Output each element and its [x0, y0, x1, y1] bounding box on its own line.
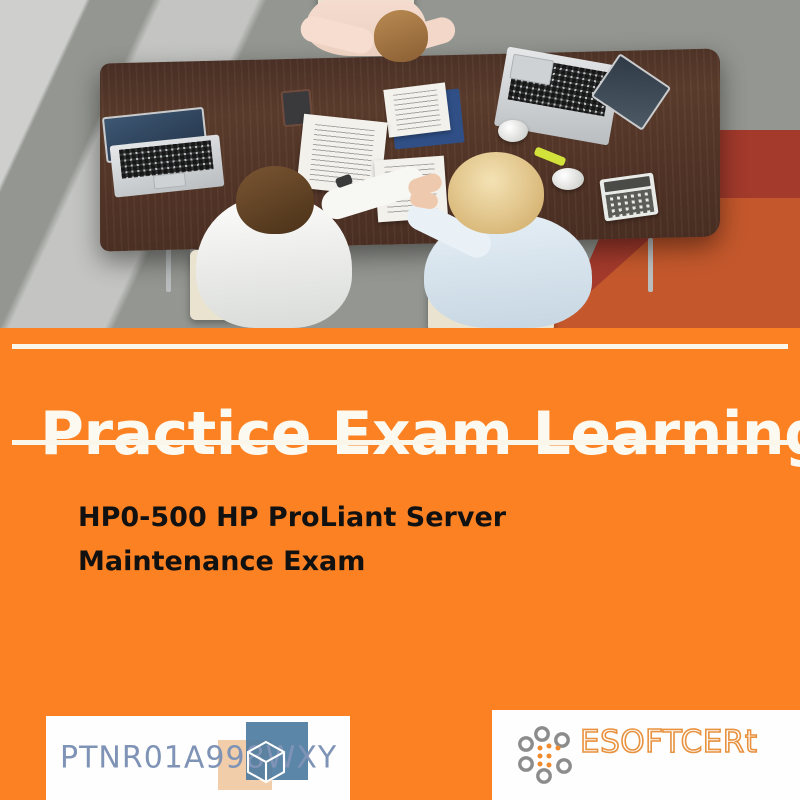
exam-title-line-2: Maintenance Exam	[78, 540, 638, 584]
coffee-cup-2	[552, 168, 584, 190]
dot-rings-icon	[516, 724, 588, 786]
exam-title: HP0-500 HP ProLiant Server Maintenance E…	[78, 496, 638, 583]
cube-icon	[242, 738, 290, 786]
paper-top-right	[383, 82, 450, 137]
headline-rule-top	[12, 344, 788, 349]
poster-root: Practice Exam Learning HP0-500 HP ProLia…	[0, 0, 800, 800]
person-left-hair	[236, 166, 314, 234]
partner-logo-text: PTNR01A998WXY	[60, 741, 337, 776]
person-top-hair	[374, 10, 428, 62]
vendor-logo: ESOFTCERt	[492, 710, 800, 800]
calculator-keys	[606, 189, 654, 219]
exam-title-line-1: HP0-500 HP ProLiant Server	[78, 496, 638, 540]
paper-text-lines	[393, 89, 442, 131]
table-leg-right	[648, 238, 653, 292]
partner-logo: PTNR01A998WXY	[46, 716, 350, 800]
vendor-logo-text: ESOFTCERt	[580, 724, 758, 760]
page-title: Practice Exam Learning	[40, 394, 770, 474]
calculator	[599, 172, 658, 221]
laptop-left-keys	[119, 140, 214, 178]
laptop-left-trackpad	[153, 173, 187, 190]
person-right-hair	[448, 152, 544, 234]
header-photo	[0, 0, 800, 328]
headline-rule-bottom	[12, 440, 788, 445]
coffee-cup-1	[498, 120, 528, 142]
